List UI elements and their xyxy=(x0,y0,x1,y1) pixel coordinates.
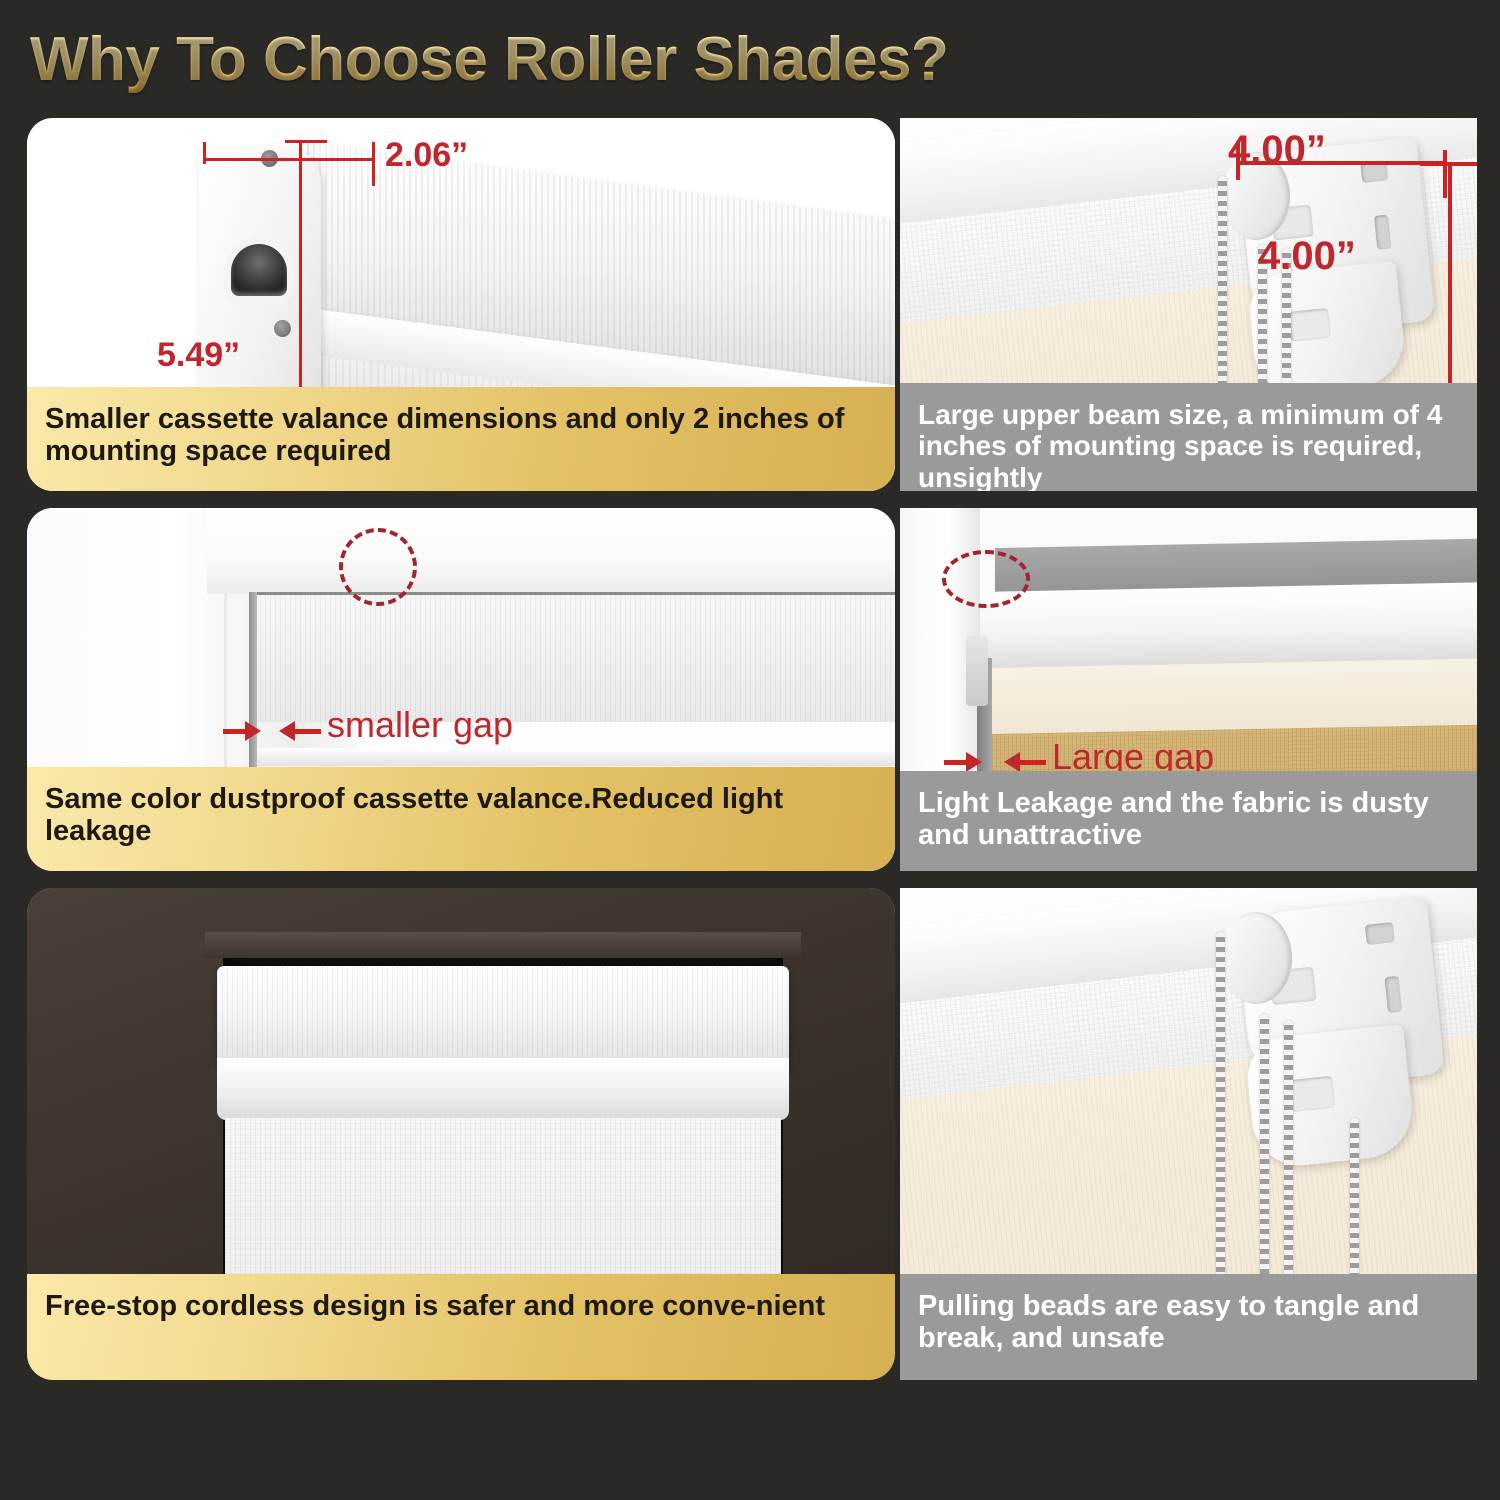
beam-height-dimension-label: 4.00” xyxy=(1258,234,1356,279)
gap-arrow-left-head xyxy=(245,721,261,741)
panel-smaller-cassette-valance: 2.06” 5.49” Smaller cassette valance dim… xyxy=(27,118,895,491)
gap-arrow-right-line xyxy=(1020,760,1046,765)
beam-width-tick-right xyxy=(1443,150,1447,198)
beam-width-dimension-label: 4.00” xyxy=(1228,128,1326,173)
caption-large-upper-beam: Large upper beam size, a minimum of 4 in… xyxy=(900,383,1477,491)
window-head xyxy=(207,508,895,594)
panel-pulling-beads: Pulling beads are easy to tangle and bre… xyxy=(900,888,1477,1380)
width-dimension-tick-right xyxy=(372,142,375,186)
caption-free-stop-cordless: Free-stop cordless design is safer and m… xyxy=(27,1274,895,1380)
roller-bracket-lower xyxy=(1246,260,1408,397)
caption-dustproof-cassette-valance: Same color dustproof cassette valance.Re… xyxy=(27,767,895,871)
beam-height-tick-top xyxy=(1420,162,1477,166)
height-dimension-label: 5.49” xyxy=(157,336,240,375)
panel-dustproof-cassette-valance: smaller gap Same color dustproof cassett… xyxy=(27,508,895,871)
bracket-edge xyxy=(966,636,988,706)
caption-smaller-cassette-valance: Smaller cassette valance dimensions and … xyxy=(27,387,895,491)
panel-light-leakage: Large gap Light Leakage and the fabric i… xyxy=(900,508,1477,871)
width-dimension-label: 2.06” xyxy=(385,136,468,175)
caption-pulling-beads: Pulling beads are easy to tangle and bre… xyxy=(900,1274,1477,1380)
cassette-valance xyxy=(217,966,789,1066)
window-header-trim xyxy=(205,932,801,958)
highlight-circle xyxy=(339,528,417,606)
gap-arrow-left-head xyxy=(966,752,982,772)
panel-free-stop-cordless: Free-stop cordless design is safer and m… xyxy=(27,888,895,1380)
caption-light-leakage: Light Leakage and the fabric is dusty an… xyxy=(900,771,1477,871)
roller-end-disc xyxy=(1220,912,1292,1004)
roller-bracket-lower xyxy=(1244,1024,1417,1170)
width-dimension-line xyxy=(203,158,375,161)
smaller-gap-label: smaller gap xyxy=(327,704,513,746)
valance-roll xyxy=(217,1058,789,1120)
panel-large-upper-beam: 4.00” 4.00” Large upper beam size, a min… xyxy=(900,118,1477,491)
width-dimension-tick-left xyxy=(203,142,206,164)
cassette-valance-face xyxy=(255,592,895,722)
comparison-grid: 2.06” 5.49” Smaller cassette valance dim… xyxy=(0,0,1500,1500)
gap-arrow-right-head xyxy=(279,721,295,741)
gap-arrow-right-line xyxy=(295,729,321,734)
height-dimension-tick-top xyxy=(285,140,327,143)
highlight-circle xyxy=(942,550,1030,608)
beam-height-dimension-line xyxy=(1448,162,1452,392)
gap-arrow-right-head xyxy=(1004,752,1020,772)
